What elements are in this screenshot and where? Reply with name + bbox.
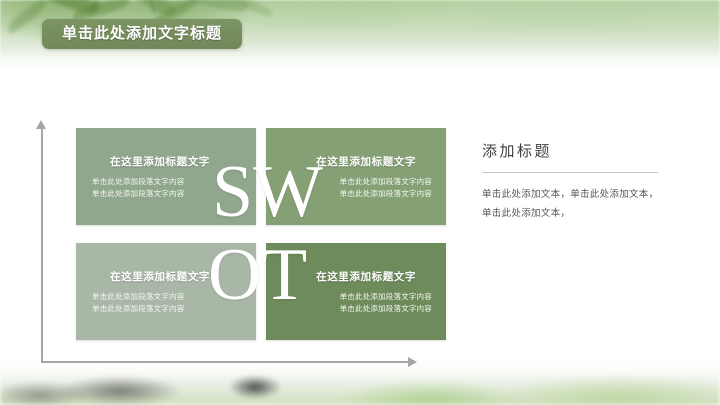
- quadrant-title: 在这里添加标题文字: [110, 154, 210, 169]
- axis-arrow-right-icon: [408, 357, 417, 367]
- quadrant-body-line: 单击此处添加段落文字内容: [340, 188, 432, 200]
- quadrant-body-line: 单击此处添加段落文字内容: [92, 303, 184, 315]
- panel-title: 添加标题: [482, 140, 664, 161]
- quadrant-body-line: 单击此处添加段落文字内容: [340, 291, 432, 303]
- panel-body-text: 单击此处添加文本，单击此处添加文本，单击此处添加文本，: [482, 186, 664, 223]
- quadrant-body: 单击此处添加段落文字内容 单击此处添加段落文字内容: [340, 176, 432, 199]
- quadrant-title: 在这里添加标题文字: [316, 269, 416, 284]
- quadrant-title: 在这里添加标题文字: [316, 154, 416, 169]
- quadrant-body: 单击此处添加段落文字内容 单击此处添加段落文字内容: [92, 291, 184, 314]
- side-text-panel: 添加标题 单击此处添加文本，单击此处添加文本，单击此处添加文本，: [482, 140, 664, 223]
- quadrant-title: 在这里添加标题文字: [110, 269, 210, 284]
- quadrant-body-line: 单击此处添加段落文字内容: [92, 291, 184, 303]
- slide-title-banner[interactable]: 单击此处添加文字标题: [42, 19, 242, 49]
- quadrant-body-line: 单击此处添加段落文字内容: [92, 176, 184, 188]
- page-title: 单击此处添加文字标题: [62, 25, 222, 42]
- vertical-axis: [41, 128, 43, 362]
- background-foliage-bottom: [0, 357, 720, 405]
- quadrant-body-line: 单击此处添加段落文字内容: [340, 303, 432, 315]
- quadrant-body-line: 单击此处添加段落文字内容: [92, 188, 184, 200]
- quadrant-body-line: 单击此处添加段落文字内容: [340, 176, 432, 188]
- swot-matrix: 在这里添加标题文字 单击此处添加段落文字内容 单击此处添加段落文字内容 在这里添…: [76, 128, 446, 340]
- slide-canvas: 单击此处添加文字标题 在这里添加标题文字 单击此处添加段落文字内容 单击此处添加…: [0, 0, 720, 405]
- horizontal-axis: [41, 361, 411, 363]
- quadrant-body: 单击此处添加段落文字内容 单击此处添加段落文字内容: [92, 176, 184, 199]
- swot-quadrant-strengths[interactable]: 在这里添加标题文字 单击此处添加段落文字内容 单击此处添加段落文字内容: [76, 128, 256, 225]
- panel-divider: [482, 172, 658, 173]
- quadrant-body: 单击此处添加段落文字内容 单击此处添加段落文字内容: [340, 291, 432, 314]
- swot-quadrant-opportunities[interactable]: 在这里添加标题文字 单击此处添加段落文字内容 单击此处添加段落文字内容: [76, 243, 256, 340]
- swot-quadrant-threats[interactable]: 在这里添加标题文字 单击此处添加段落文字内容 单击此处添加段落文字内容: [266, 243, 446, 340]
- swot-quadrant-weaknesses[interactable]: 在这里添加标题文字 单击此处添加段落文字内容 单击此处添加段落文字内容: [266, 128, 446, 225]
